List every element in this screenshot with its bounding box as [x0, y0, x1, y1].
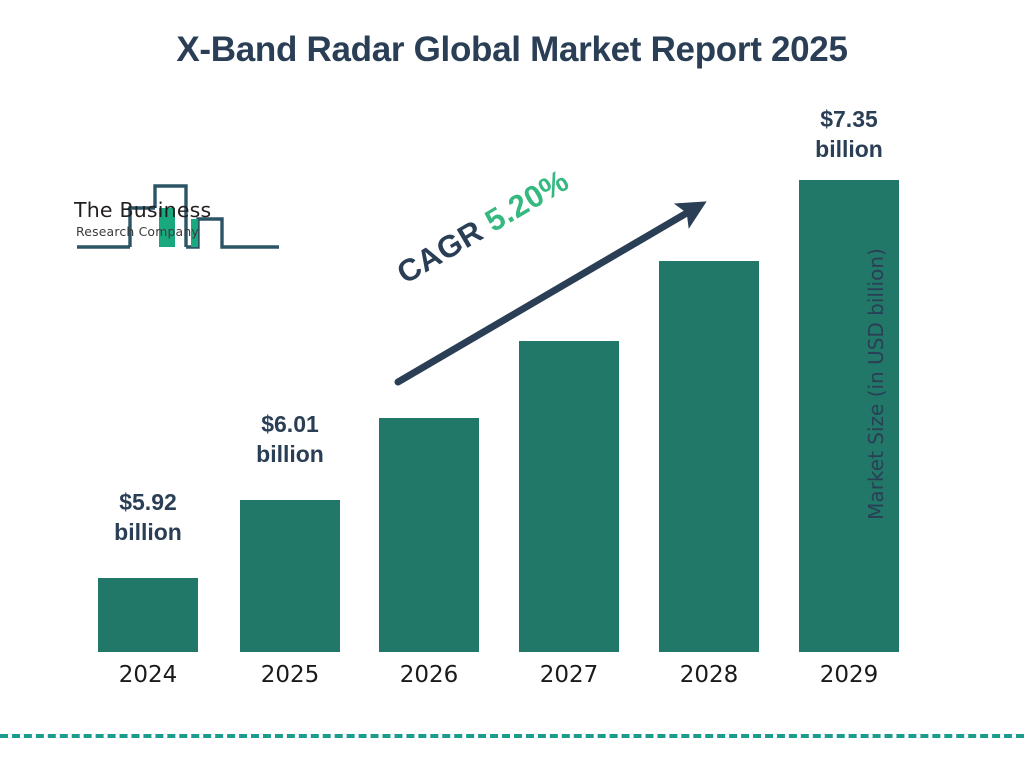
bar-2027[interactable] [519, 341, 619, 652]
bar-value-2024: $5.92 billion [58, 487, 238, 548]
x-tick-2028: 2028 [649, 662, 769, 688]
bar-2025[interactable] [240, 500, 340, 652]
y-axis-title: Market Size (in USD billion) [864, 248, 888, 520]
footer-divider [0, 734, 1024, 738]
chart-root: X-Band Radar Global Market Report 2025 T… [0, 0, 1024, 768]
x-tick-2029: 2029 [789, 662, 909, 688]
x-tick-2025: 2025 [230, 662, 350, 688]
x-tick-2024: 2024 [88, 662, 208, 688]
bar-2028[interactable] [659, 261, 759, 652]
x-tick-2026: 2026 [369, 662, 489, 688]
bar-value-2029: $7.35 billion [759, 104, 939, 165]
bar-value-2025: $6.01 billion [200, 409, 380, 470]
x-tick-2027: 2027 [509, 662, 629, 688]
bar-2026[interactable] [379, 418, 479, 652]
bar-2024[interactable] [98, 578, 198, 652]
